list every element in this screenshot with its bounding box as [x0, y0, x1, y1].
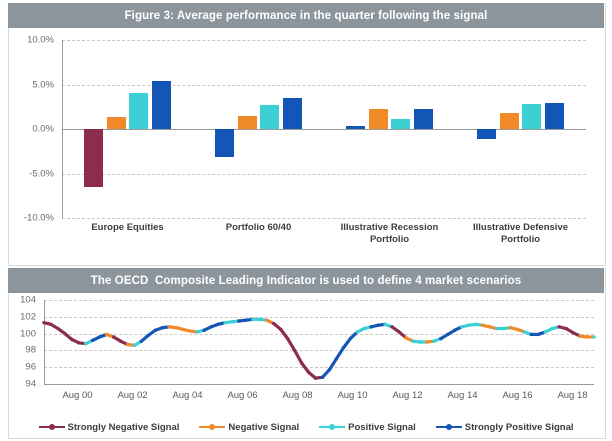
cli-line-series [40, 296, 598, 388]
cli-data-point [342, 346, 345, 349]
legend-item-label: Positive Signal [348, 422, 416, 433]
bar-negative-signal [238, 116, 257, 129]
bar-strongly-positive-signal [545, 103, 564, 129]
cli-data-point [84, 342, 87, 345]
bar-category-label: Illustrative Recession Portfolio [324, 222, 455, 245]
bar-positive-signal [391, 119, 410, 129]
cli-data-point [432, 339, 435, 342]
bar-strongly-negative-signal [84, 129, 103, 187]
cli-data-point [300, 361, 303, 364]
cli-data-point [126, 343, 129, 346]
bar-positive-signal [522, 104, 541, 129]
line-x-tick-label: Aug 14 [435, 390, 490, 401]
bar-strongly-negative-signal [215, 129, 234, 157]
cli-data-point [425, 340, 428, 343]
legend-marker-icon [199, 423, 225, 432]
line-y-tick-label: 104 [0, 295, 36, 306]
bar-y-tick-label: 0.0% [0, 124, 54, 135]
legend-marker-icon [436, 423, 462, 432]
line-x-tick-label: Aug 08 [270, 390, 325, 401]
cli-data-point [481, 324, 484, 327]
cli-data-point [209, 325, 212, 328]
bar-gridline [62, 218, 586, 219]
legend-item-label: Strongly Positive Signal [465, 422, 574, 433]
legend-item[interactable]: Negative Signal [199, 422, 299, 433]
cli-data-point [216, 323, 219, 326]
cli-line-segment [329, 359, 336, 370]
cli-data-point [467, 324, 470, 327]
cli-data-point [154, 329, 157, 332]
cli-data-point [453, 329, 456, 332]
cli-data-point [175, 326, 178, 329]
cli-data-point [363, 327, 366, 330]
bar-y-tick-label: -10.0% [0, 213, 54, 224]
line-y-tick-label: 94 [0, 379, 36, 390]
bar-negative-signal [107, 117, 126, 129]
legend-marker-icon [319, 423, 345, 432]
cli-data-point [564, 327, 567, 330]
cli-data-point [557, 325, 560, 328]
cli-data-point [77, 341, 80, 344]
cli-data-point [140, 339, 143, 342]
bar-category-label: Europe Equities [62, 222, 193, 234]
bar-positive-signal [129, 93, 148, 129]
cli-data-point [460, 325, 463, 328]
cli-data-point [551, 327, 554, 330]
cli-data-point [411, 339, 414, 342]
cli-data-point [314, 376, 317, 379]
bar-negative-signal [500, 113, 519, 129]
cli-data-point [307, 371, 310, 374]
cli-data-point [182, 328, 185, 331]
cli-data-point [404, 336, 407, 339]
line-chart-plot-area [44, 300, 594, 384]
line-chart-title: The OECD Composite Leading Indicator is … [8, 268, 604, 293]
bar-strongly-positive-signal [283, 98, 302, 129]
cli-data-point [516, 328, 519, 331]
cli-data-point [488, 325, 491, 328]
cli-data-point [189, 329, 192, 332]
cli-data-point [70, 338, 73, 341]
cli-data-point [147, 334, 150, 337]
cli-line-segment [336, 348, 343, 359]
legend-item-label: Strongly Negative Signal [68, 422, 180, 433]
cli-data-point [42, 321, 45, 324]
cli-data-point [251, 318, 254, 321]
bar-strongly-positive-signal [152, 81, 171, 129]
line-y-tick-label: 98 [0, 345, 36, 356]
cli-data-point [202, 329, 205, 332]
cli-line-segment [302, 363, 309, 372]
cli-data-point [446, 333, 449, 336]
cli-data-point [168, 325, 171, 328]
cli-data-point [98, 335, 101, 338]
cli-line-segment [288, 339, 295, 351]
cli-data-point [119, 339, 122, 342]
cli-data-point [223, 321, 226, 324]
chart-legend: Strongly Negative SignalNegative SignalP… [8, 418, 604, 436]
cli-data-point [335, 357, 338, 360]
cli-data-point [195, 330, 198, 333]
cli-data-point [133, 344, 136, 347]
cli-data-point [537, 333, 540, 336]
cli-data-point [376, 324, 379, 327]
cli-data-point [112, 335, 115, 338]
line-y-tick-label: 102 [0, 311, 36, 322]
cli-data-point [370, 325, 373, 328]
cli-data-point [439, 337, 442, 340]
cli-data-point [390, 325, 393, 328]
bar-positive-signal [260, 105, 279, 129]
bar-y-tick-label: 10.0% [0, 35, 54, 46]
line-x-tick-label: Aug 00 [50, 390, 105, 401]
cli-data-point [279, 328, 282, 331]
line-x-tick-label: Aug 06 [215, 390, 270, 401]
bar-y-tick-label: -5.0% [0, 168, 54, 179]
cli-data-point [91, 339, 94, 342]
legend-item[interactable]: Strongly Positive Signal [436, 422, 574, 433]
bar-strongly-positive-signal [414, 109, 433, 129]
cli-data-point [592, 335, 595, 338]
cli-data-point [578, 334, 581, 337]
legend-marker-icon [39, 423, 65, 432]
cli-data-point [571, 331, 574, 334]
line-x-tick-label: Aug 10 [325, 390, 380, 401]
line-y-tick-label: 96 [0, 362, 36, 373]
cli-data-point [63, 332, 66, 335]
bar-strongly-negative-signal [346, 126, 365, 129]
cli-data-point [418, 340, 421, 343]
cli-data-point [474, 323, 477, 326]
cli-data-point [258, 318, 261, 321]
cli-data-point [397, 330, 400, 333]
cli-data-point [49, 323, 52, 326]
cli-line-segment [281, 329, 288, 338]
cli-data-point [293, 349, 296, 352]
cli-data-point [502, 327, 505, 330]
cli-data-point [321, 376, 324, 379]
cli-data-point [383, 323, 386, 326]
bar-y-tick-label: 5.0% [0, 79, 54, 90]
line-y-tick-label: 100 [0, 328, 36, 339]
cli-data-point [495, 327, 498, 330]
cli-data-point [244, 318, 247, 321]
line-x-tick-label: Aug 16 [490, 390, 545, 401]
cli-data-point [230, 320, 233, 323]
legend-item-label: Negative Signal [228, 422, 299, 433]
cli-data-point [349, 337, 352, 340]
bar-category-label: Illustrative Defensive Portfolio [455, 222, 586, 245]
cli-data-point [105, 333, 108, 336]
line-x-tick-label: Aug 12 [380, 390, 435, 401]
cli-data-point [237, 319, 240, 322]
cli-data-point [509, 326, 512, 329]
cli-line-segment [343, 339, 350, 348]
bar-chart-plot-area [62, 40, 586, 218]
line-x-tick-label: Aug 18 [545, 390, 600, 401]
bar-chart-title: Figure 3: Average performance in the qua… [8, 3, 604, 28]
cli-data-point [544, 330, 547, 333]
figure-page: Figure 3: Average performance in the qua… [0, 0, 612, 441]
cli-data-point [56, 327, 59, 330]
cli-line-segment [295, 350, 302, 363]
line-x-tick-label: Aug 04 [160, 390, 215, 401]
cli-data-point [585, 335, 588, 338]
cli-data-point [161, 326, 164, 329]
cli-data-point [265, 318, 268, 321]
cli-data-point [530, 333, 533, 336]
cli-data-point [523, 330, 526, 333]
legend-item[interactable]: Strongly Negative Signal [39, 422, 180, 433]
bar-strongly-negative-signal [477, 129, 496, 139]
cli-data-point [356, 330, 359, 333]
line-x-tick-label: Aug 02 [105, 390, 160, 401]
cli-data-point [286, 337, 289, 340]
cli-data-point [328, 368, 331, 371]
cli-data-point [272, 322, 275, 325]
legend-item[interactable]: Positive Signal [319, 422, 416, 433]
bar-category-label: Portfolio 60/40 [193, 222, 324, 234]
bar-negative-signal [369, 109, 388, 129]
